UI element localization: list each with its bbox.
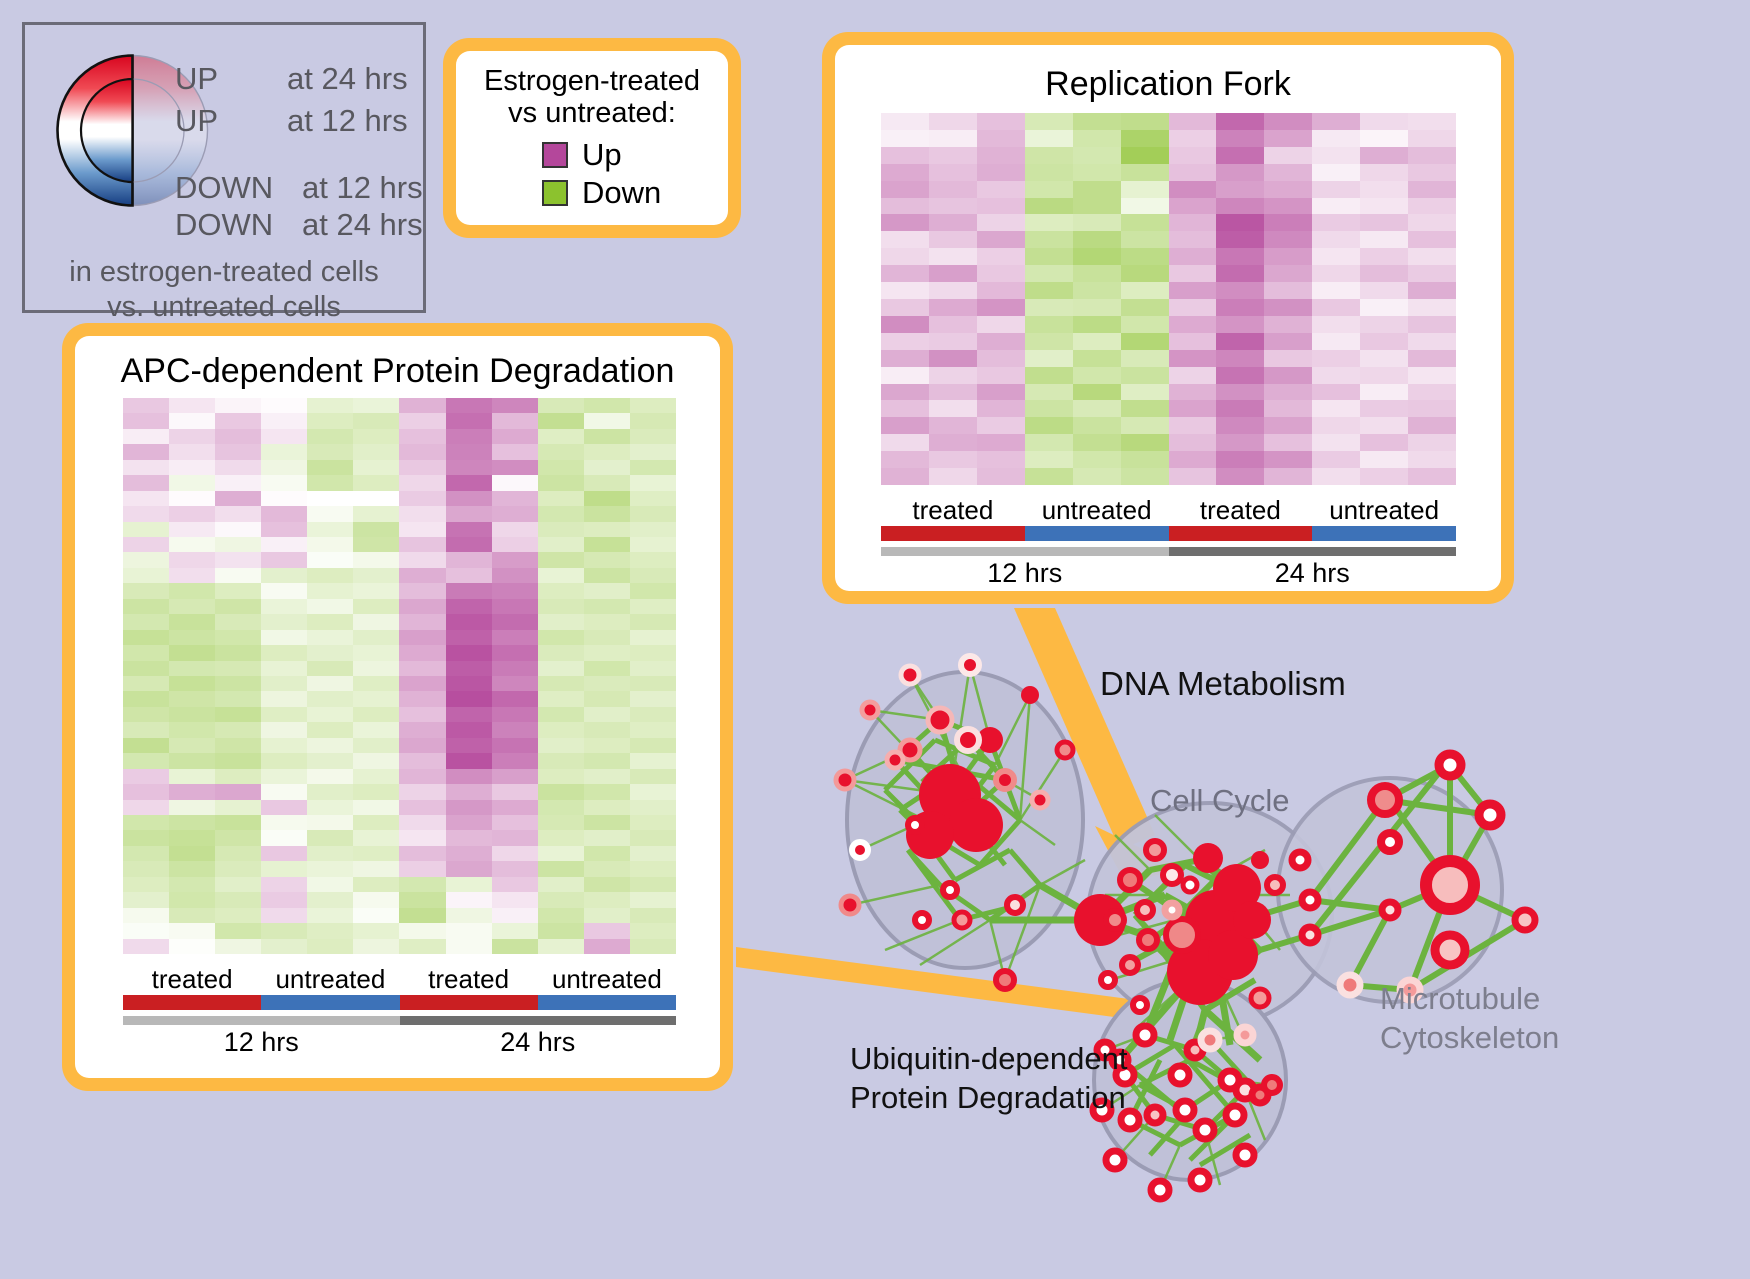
heatmap-cell xyxy=(169,583,215,598)
rf-group-label-3: untreated xyxy=(1312,495,1456,526)
heatmap-cell xyxy=(307,522,353,537)
heatmap-cell xyxy=(215,413,261,428)
heatmap-cell xyxy=(929,231,977,248)
heatmap-cell xyxy=(261,537,307,552)
heatmap-cell xyxy=(977,164,1025,181)
heatmap-cell xyxy=(1073,384,1121,401)
heatmap-cell xyxy=(1360,316,1408,333)
heatmap-cell xyxy=(399,846,445,861)
heatmap-cell xyxy=(1216,333,1264,350)
heatmap-cell xyxy=(123,923,169,938)
heatmap-cell xyxy=(169,846,215,861)
heatmap-cell xyxy=(1216,113,1264,130)
heatmap-cell xyxy=(1360,350,1408,367)
heatmap-cell xyxy=(399,398,445,413)
heatmap-cell xyxy=(446,522,492,537)
heatmap-cell xyxy=(446,877,492,892)
updown-legend-title-line1: Estrogen-treated xyxy=(464,65,720,97)
heatmap-cell xyxy=(977,265,1025,282)
heatmap-cell xyxy=(123,429,169,444)
heatmap-cell xyxy=(492,923,538,938)
heatmap-cell xyxy=(630,691,676,706)
heatmap-cell xyxy=(1360,299,1408,316)
heatmap-cell xyxy=(215,429,261,444)
heatmap-cell xyxy=(929,164,977,181)
heatmap-cell xyxy=(307,398,353,413)
heatmap-cell xyxy=(492,861,538,876)
heatmap-cell xyxy=(1408,299,1456,316)
heatmap-cell xyxy=(307,753,353,768)
heatmap-cell xyxy=(307,583,353,598)
heatmap-cell xyxy=(399,722,445,737)
heatmap-cell xyxy=(977,333,1025,350)
heatmap-cell xyxy=(1025,130,1073,147)
heatmap-cell xyxy=(492,522,538,537)
heatmap-cell xyxy=(1360,181,1408,198)
heatmap-cell xyxy=(881,434,929,451)
heatmap-cell xyxy=(630,923,676,938)
heatmap-cell xyxy=(307,861,353,876)
rf-time-labels: 12 hrs 24 hrs xyxy=(881,558,1456,589)
heatmap-cell xyxy=(261,661,307,676)
heatmap-cell xyxy=(1360,333,1408,350)
heatmap-cell xyxy=(1073,451,1121,468)
heatmap-cell xyxy=(215,830,261,845)
heatmap-cell xyxy=(169,830,215,845)
heatmap-cell xyxy=(1121,316,1169,333)
heatmap-cell xyxy=(261,583,307,598)
heatmap-cell xyxy=(353,429,399,444)
heatmap-cell xyxy=(169,522,215,537)
heatmap-cell xyxy=(881,113,929,130)
heatmap-cell xyxy=(492,877,538,892)
heatmap-cell xyxy=(353,630,399,645)
heatmap-cell xyxy=(929,113,977,130)
heatmap-cell xyxy=(169,676,215,691)
heatmap-cell xyxy=(307,800,353,815)
heatmap-cell xyxy=(538,645,584,660)
heatmap-cell xyxy=(1216,316,1264,333)
heatmap-cell xyxy=(399,583,445,598)
heatmap-cell xyxy=(123,661,169,676)
heatmap-cell xyxy=(1169,400,1217,417)
heatmap-cell xyxy=(1216,164,1264,181)
heatmap-cell xyxy=(977,198,1025,215)
heatmap-cell xyxy=(123,583,169,598)
cluster-label-ubiquitin-line2: Protein Degradation xyxy=(850,1079,1128,1118)
cluster-label-microtubule-line2: Cytoskeleton xyxy=(1380,1019,1559,1058)
heatmap-cell xyxy=(538,908,584,923)
heatmap-cell xyxy=(399,552,445,567)
replication-fork-title: Replication Fork xyxy=(835,65,1501,104)
heatmap-cell xyxy=(123,815,169,830)
heatmap-cell xyxy=(1216,299,1264,316)
rf-group-bars xyxy=(881,526,1456,541)
heatmap-cell xyxy=(1169,350,1217,367)
apc-bar-untreated-12 xyxy=(261,995,399,1010)
heatmap-cell xyxy=(538,892,584,907)
heatmap-cell xyxy=(353,846,399,861)
heatmap-cell xyxy=(977,299,1025,316)
heatmap-cell xyxy=(123,599,169,614)
heatmap-cell xyxy=(1216,231,1264,248)
heatmap-cell xyxy=(399,861,445,876)
pathway-network-diagram xyxy=(790,620,1750,1279)
heatmap-cell xyxy=(446,444,492,459)
heatmap-cell xyxy=(1264,400,1312,417)
heatmap-cell xyxy=(123,630,169,645)
heatmap-cell xyxy=(1121,231,1169,248)
heatmap-cell xyxy=(1073,130,1121,147)
heatmap-cell xyxy=(1025,468,1073,485)
heatmap-cell xyxy=(929,299,977,316)
rf-group-labels: treated untreated treated untreated xyxy=(881,495,1456,526)
heatmap-cell xyxy=(446,552,492,567)
heatmap-cell xyxy=(630,830,676,845)
heatmap-cell xyxy=(1025,333,1073,350)
heatmap-cell xyxy=(977,367,1025,384)
heatmap-cell xyxy=(215,630,261,645)
heatmap-cell xyxy=(1025,248,1073,265)
heatmap-cell xyxy=(215,753,261,768)
heatmap-cell xyxy=(261,784,307,799)
heatmap-cell xyxy=(1169,451,1217,468)
heatmap-cell xyxy=(123,846,169,861)
heatmap-cell xyxy=(1025,282,1073,299)
apc-group-bars xyxy=(123,995,676,1010)
heatmap-cell xyxy=(169,444,215,459)
heatmap-cell xyxy=(1216,451,1264,468)
colorwheel-legend-box: UP at 24 hrs UP at 12 hrs DOWN at 12 hrs… xyxy=(22,22,426,313)
heatmap-cell xyxy=(1312,451,1360,468)
replication-fork-axis: treated untreated treated untreated 12 h… xyxy=(881,495,1456,589)
heatmap-cell xyxy=(929,147,977,164)
heatmap-cell xyxy=(538,614,584,629)
legend-time-12: at 12 hrs xyxy=(287,103,408,139)
heatmap-cell xyxy=(399,939,445,954)
heatmap-cell xyxy=(169,413,215,428)
heatmap-cell xyxy=(1121,384,1169,401)
heatmap-cell xyxy=(261,568,307,583)
heatmap-cell xyxy=(1312,113,1360,130)
heatmap-cell xyxy=(1360,434,1408,451)
heatmap-cell xyxy=(1169,316,1217,333)
heatmap-cell xyxy=(881,468,929,485)
heatmap-cell xyxy=(399,877,445,892)
heatmap-cell xyxy=(1216,367,1264,384)
heatmap-cell xyxy=(977,434,1025,451)
heatmap-cell xyxy=(977,468,1025,485)
heatmap-cell xyxy=(1121,400,1169,417)
heatmap-cell xyxy=(538,506,584,521)
heatmap-cell xyxy=(123,614,169,629)
heatmap-cell xyxy=(1360,248,1408,265)
heatmap-cell xyxy=(881,147,929,164)
rf-bar-untreated-12 xyxy=(1025,526,1169,541)
legend-direction-up-12: UP xyxy=(175,103,218,139)
heatmap-cell xyxy=(1312,384,1360,401)
heatmap-cell xyxy=(353,676,399,691)
heatmap-cell xyxy=(492,691,538,706)
heatmap-cell xyxy=(1073,367,1121,384)
heatmap-cell xyxy=(123,676,169,691)
apc-bar-treated-24 xyxy=(400,995,538,1010)
heatmap-cell xyxy=(446,753,492,768)
heatmap-cell xyxy=(584,552,630,567)
heatmap-cell xyxy=(1216,468,1264,485)
heatmap-cell xyxy=(492,830,538,845)
heatmap-cell xyxy=(881,231,929,248)
heatmap-cell xyxy=(1264,147,1312,164)
heatmap-cell xyxy=(307,691,353,706)
heatmap-cell xyxy=(261,877,307,892)
heatmap-cell xyxy=(169,630,215,645)
heatmap-cell xyxy=(1073,147,1121,164)
heatmap-cell xyxy=(630,568,676,583)
heatmap-cell xyxy=(1169,181,1217,198)
heatmap-cell xyxy=(353,413,399,428)
heatmap-cell xyxy=(1264,434,1312,451)
updown-legend-items: Up Down xyxy=(456,136,728,212)
heatmap-cell xyxy=(261,599,307,614)
heatmap-cell xyxy=(1408,214,1456,231)
heatmap-cell xyxy=(584,645,630,660)
heatmap-cell xyxy=(261,506,307,521)
heatmap-cell xyxy=(169,429,215,444)
heatmap-cell xyxy=(307,784,353,799)
heatmap-cell xyxy=(307,661,353,676)
heatmap-cell xyxy=(584,537,630,552)
apc-group-labels: treated untreated treated untreated xyxy=(123,964,676,995)
heatmap-cell xyxy=(492,769,538,784)
heatmap-cell xyxy=(123,722,169,737)
heatmap-cell xyxy=(169,691,215,706)
heatmap-cell xyxy=(538,815,584,830)
heatmap-cell xyxy=(1408,130,1456,147)
heatmap-cell xyxy=(307,645,353,660)
heatmap-cell xyxy=(538,738,584,753)
heatmap-cell xyxy=(1408,265,1456,282)
heatmap-cell xyxy=(1216,248,1264,265)
heatmap-cell xyxy=(169,460,215,475)
heatmap-cell xyxy=(1360,417,1408,434)
heatmap-cell xyxy=(446,583,492,598)
heatmap-cell xyxy=(881,367,929,384)
apc-time-label-12: 12 hrs xyxy=(123,1027,400,1058)
apc-time-bar-24 xyxy=(400,1016,677,1025)
heatmap-cell xyxy=(538,722,584,737)
heatmap-cell xyxy=(538,413,584,428)
heatmap-cell xyxy=(538,939,584,954)
heatmap-cell xyxy=(353,908,399,923)
heatmap-cell xyxy=(261,676,307,691)
heatmap-cell xyxy=(538,784,584,799)
heatmap-cell xyxy=(215,568,261,583)
heatmap-cell xyxy=(399,568,445,583)
heatmap-cell xyxy=(307,846,353,861)
heatmap-cell xyxy=(169,784,215,799)
heatmap-cell xyxy=(353,784,399,799)
heatmap-cell xyxy=(307,614,353,629)
heatmap-cell xyxy=(1073,198,1121,215)
cluster-label-cell-cycle: Cell Cycle xyxy=(1150,783,1290,819)
heatmap-cell xyxy=(446,830,492,845)
heatmap-cell xyxy=(1121,164,1169,181)
heatmap-cell xyxy=(630,722,676,737)
heatmap-cell xyxy=(1264,265,1312,282)
swatch-up-icon xyxy=(542,142,568,168)
heatmap-cell xyxy=(929,282,977,299)
heatmap-cell xyxy=(446,506,492,521)
heatmap-cell xyxy=(929,214,977,231)
heatmap-cell xyxy=(538,398,584,413)
heatmap-cell xyxy=(446,784,492,799)
heatmap-cell xyxy=(307,830,353,845)
heatmap-cell xyxy=(538,830,584,845)
heatmap-cell xyxy=(446,676,492,691)
colorwheel-caption-line2: vs. untreated cells xyxy=(25,290,423,325)
heatmap-cell xyxy=(1312,316,1360,333)
heatmap-cell xyxy=(353,753,399,768)
heatmap-cell xyxy=(353,691,399,706)
heatmap-cell xyxy=(446,691,492,706)
heatmap-cell xyxy=(492,630,538,645)
heatmap-cell xyxy=(261,830,307,845)
heatmap-cell xyxy=(123,413,169,428)
heatmap-cell xyxy=(446,537,492,552)
heatmap-cell xyxy=(215,738,261,753)
heatmap-cell xyxy=(1073,181,1121,198)
heatmap-cell xyxy=(123,645,169,660)
heatmap-cell xyxy=(353,475,399,490)
apc-group-label-2: treated xyxy=(400,964,538,995)
heatmap-cell xyxy=(353,537,399,552)
apc-bar-treated-12 xyxy=(123,995,261,1010)
heatmap-cell xyxy=(881,198,929,215)
heatmap-cell xyxy=(1073,214,1121,231)
heatmap-cell xyxy=(215,892,261,907)
heatmap-cell xyxy=(1169,282,1217,299)
heatmap-cell xyxy=(977,231,1025,248)
heatmap-cell xyxy=(399,599,445,614)
heatmap-cell xyxy=(261,444,307,459)
swatch-down-icon xyxy=(542,180,568,206)
heatmap-cell xyxy=(399,784,445,799)
heatmap-cell xyxy=(1312,350,1360,367)
heatmap-cell xyxy=(1025,181,1073,198)
heatmap-cell xyxy=(584,630,630,645)
heatmap-cell xyxy=(1121,265,1169,282)
heatmap-cell xyxy=(1360,214,1408,231)
heatmap-cell xyxy=(215,815,261,830)
heatmap-cell xyxy=(215,784,261,799)
heatmap-cell xyxy=(123,691,169,706)
heatmap-cell xyxy=(353,939,399,954)
heatmap-cell xyxy=(881,299,929,316)
heatmap-cell xyxy=(123,491,169,506)
heatmap-cell xyxy=(353,568,399,583)
legend-item-up: Up xyxy=(542,136,728,174)
heatmap-cell xyxy=(1360,147,1408,164)
heatmap-cell xyxy=(492,491,538,506)
heatmap-cell xyxy=(538,491,584,506)
apc-time-bars xyxy=(123,1016,676,1025)
heatmap-cell xyxy=(1121,113,1169,130)
heatmap-cell xyxy=(446,846,492,861)
heatmap-cell xyxy=(353,444,399,459)
heatmap-cell xyxy=(399,676,445,691)
heatmap-cell xyxy=(538,800,584,815)
heatmap-cell xyxy=(1312,147,1360,164)
heatmap-cell xyxy=(584,846,630,861)
heatmap-cell xyxy=(538,691,584,706)
heatmap-cell xyxy=(1408,282,1456,299)
heatmap-cell xyxy=(538,537,584,552)
heatmap-cell xyxy=(630,475,676,490)
heatmap-cell xyxy=(307,769,353,784)
heatmap-cell xyxy=(215,923,261,938)
heatmap-cell xyxy=(261,398,307,413)
heatmap-cell xyxy=(169,923,215,938)
heatmap-cell xyxy=(630,939,676,954)
heatmap-cell xyxy=(584,815,630,830)
heatmap-cell xyxy=(215,877,261,892)
heatmap-cell xyxy=(399,800,445,815)
heatmap-cell xyxy=(538,877,584,892)
heatmap-cell xyxy=(169,939,215,954)
heatmap-cell xyxy=(630,506,676,521)
heatmap-cell xyxy=(261,722,307,737)
heatmap-cell xyxy=(881,417,929,434)
heatmap-cell xyxy=(492,753,538,768)
heatmap-cell xyxy=(1312,130,1360,147)
heatmap-cell xyxy=(353,599,399,614)
replication-fork-heatmap xyxy=(881,113,1456,485)
heatmap-cell xyxy=(169,491,215,506)
heatmap-cell xyxy=(307,923,353,938)
heatmap-cell xyxy=(929,451,977,468)
heatmap-cell xyxy=(630,583,676,598)
heatmap-cell xyxy=(538,599,584,614)
rf-time-bar-24 xyxy=(1169,547,1457,556)
rf-bar-untreated-24 xyxy=(1312,526,1456,541)
heatmap-cell xyxy=(630,429,676,444)
heatmap-cell xyxy=(1312,468,1360,485)
heatmap-cell xyxy=(1073,113,1121,130)
heatmap-cell xyxy=(977,451,1025,468)
updown-legend-title: Estrogen-treated vs untreated: xyxy=(456,65,728,130)
heatmap-cell xyxy=(446,491,492,506)
heatmap-cell xyxy=(584,413,630,428)
heatmap-cell xyxy=(492,892,538,907)
heatmap-cell xyxy=(446,398,492,413)
heatmap-cell xyxy=(1025,400,1073,417)
heatmap-cell xyxy=(1408,468,1456,485)
heatmap-cell xyxy=(169,537,215,552)
heatmap-cell xyxy=(538,861,584,876)
heatmap-cell xyxy=(169,908,215,923)
heatmap-cell xyxy=(399,830,445,845)
heatmap-cell xyxy=(169,552,215,567)
apc-group-label-1: untreated xyxy=(261,964,399,995)
heatmap-cell xyxy=(1408,400,1456,417)
heatmap-cell xyxy=(399,614,445,629)
heatmap-cell xyxy=(353,877,399,892)
heatmap-cell xyxy=(538,522,584,537)
heatmap-cell xyxy=(169,398,215,413)
heatmap-cell xyxy=(1025,164,1073,181)
heatmap-cell xyxy=(1025,384,1073,401)
